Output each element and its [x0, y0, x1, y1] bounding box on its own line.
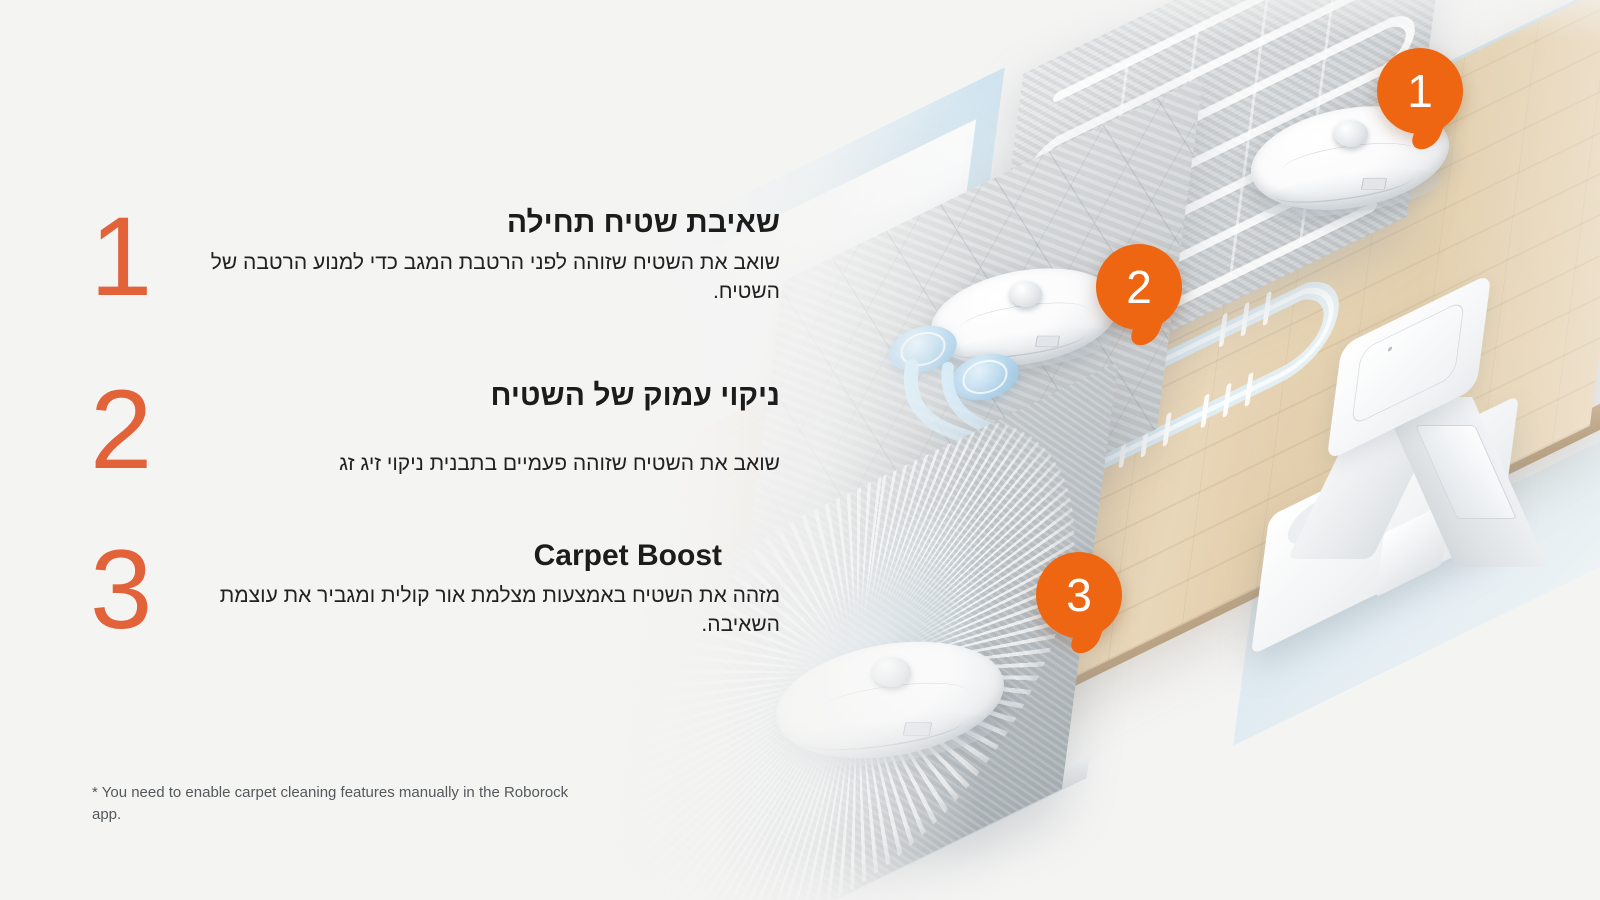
robot-vacuum-lower [775, 610, 1005, 790]
scene-badge-2: 2 [1096, 244, 1182, 330]
step-text-2: ניקוי עמוק של השטיח שואב את השטיח שזוהה … [150, 378, 780, 478]
scene-badge-1-label: 1 [1407, 68, 1433, 114]
step-heading-3: Carpet Boost [150, 538, 780, 575]
scene-badge-1: 1 [1377, 48, 1463, 134]
step-body-3: מזהה את השטיח באמצעות מצלמת אור קולית ומ… [150, 581, 780, 641]
dock-station [1260, 305, 1560, 615]
scene-badge-2-label: 2 [1126, 264, 1152, 310]
steps-list: 1 שאיבת שטיח תחילה שואב את השטיח שזוהה ל… [0, 0, 800, 900]
page-root: 1 2 3 1 שאיבת שטיח תחילה שואב את השטיח ש… [0, 0, 1600, 900]
step-text-1: שאיבת שטיח תחילה שואב את השטיח שזוהה לפנ… [150, 205, 780, 307]
step-heading-2: ניקוי עמוק של השטיח [150, 378, 780, 415]
step-body-2: שואב את השטיח שזוהה פעמיים בתבנית ניקוי … [150, 449, 780, 479]
scene-badge-3: 3 [1036, 552, 1122, 638]
step-heading-1: שאיבת שטיח תחילה [150, 205, 780, 242]
step-text-3: Carpet Boost מזהה את השטיח באמצעות מצלמת… [150, 538, 780, 640]
scene-badge-3-label: 3 [1066, 572, 1092, 618]
step-body-1: שואב את השטיח שזוהה לפני הרטבת המגב כדי … [150, 248, 780, 308]
footnote-text: * You need to enable carpet cleaning fea… [92, 782, 592, 826]
